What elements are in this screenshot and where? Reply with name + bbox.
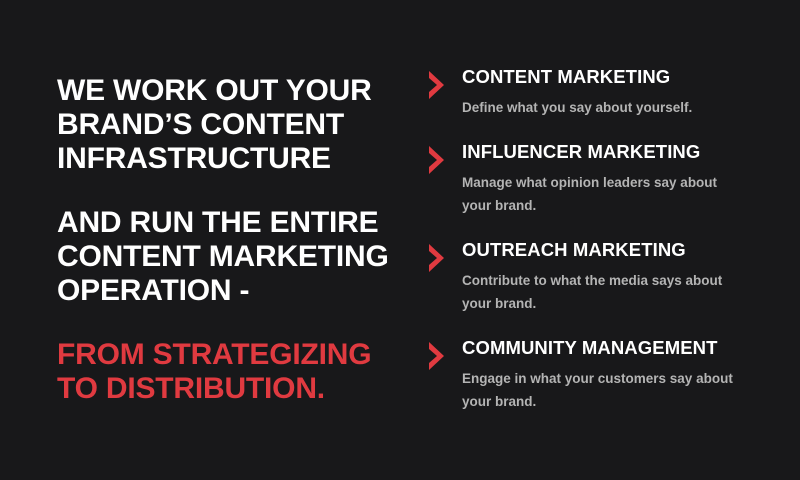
headline-line: BRAND’S CONTENT <box>57 108 397 142</box>
chevron-right-icon <box>426 243 448 273</box>
service-item[interactable]: INFLUENCER MARKETINGManage what opinion … <box>424 141 754 217</box>
headline-line: TO DISTRIBUTION. <box>57 372 397 406</box>
headline-line: AND RUN THE ENTIRE <box>57 206 397 240</box>
headline-line: INFRASTRUCTURE <box>57 142 397 176</box>
service-title: INFLUENCER MARKETING <box>462 141 754 163</box>
service-item[interactable]: CONTENT MARKETINGDefine what you say abo… <box>424 66 754 119</box>
service-item[interactable]: OUTREACH MARKETINGContribute to what the… <box>424 239 754 315</box>
service-description: Manage what opinion leaders say about yo… <box>462 171 742 217</box>
service-title: COMMUNITY MANAGEMENT <box>462 337 754 359</box>
headline-primary: WE WORK OUT YOURBRAND’S CONTENTINFRASTRU… <box>57 74 397 176</box>
headline-column: WE WORK OUT YOURBRAND’S CONTENTINFRASTRU… <box>57 74 397 406</box>
service-title: CONTENT MARKETING <box>462 66 754 88</box>
service-title: OUTREACH MARKETING <box>462 239 754 261</box>
service-list: CONTENT MARKETINGDefine what you say abo… <box>424 66 754 413</box>
chevron-right-icon <box>426 145 448 175</box>
service-description: Engage in what your customers say about … <box>462 367 742 413</box>
chevron-right-icon <box>426 341 448 371</box>
service-item[interactable]: COMMUNITY MANAGEMENTEngage in what your … <box>424 337 754 413</box>
headline-line: WE WORK OUT YOUR <box>57 74 397 108</box>
headline-line: OPERATION - <box>57 274 397 308</box>
headline-line: CONTENT MARKETING <box>57 240 397 274</box>
headline-accent: FROM STRATEGIZINGTO DISTRIBUTION. <box>57 338 397 406</box>
headline-line: FROM STRATEGIZING <box>57 338 397 372</box>
headline-secondary: AND RUN THE ENTIRECONTENT MARKETINGOPERA… <box>57 206 397 308</box>
chevron-right-icon <box>426 70 448 100</box>
service-description: Contribute to what the media says about … <box>462 269 742 315</box>
slide-canvas: WE WORK OUT YOURBRAND’S CONTENTINFRASTRU… <box>0 0 800 480</box>
service-description: Define what you say about yourself. <box>462 96 742 119</box>
